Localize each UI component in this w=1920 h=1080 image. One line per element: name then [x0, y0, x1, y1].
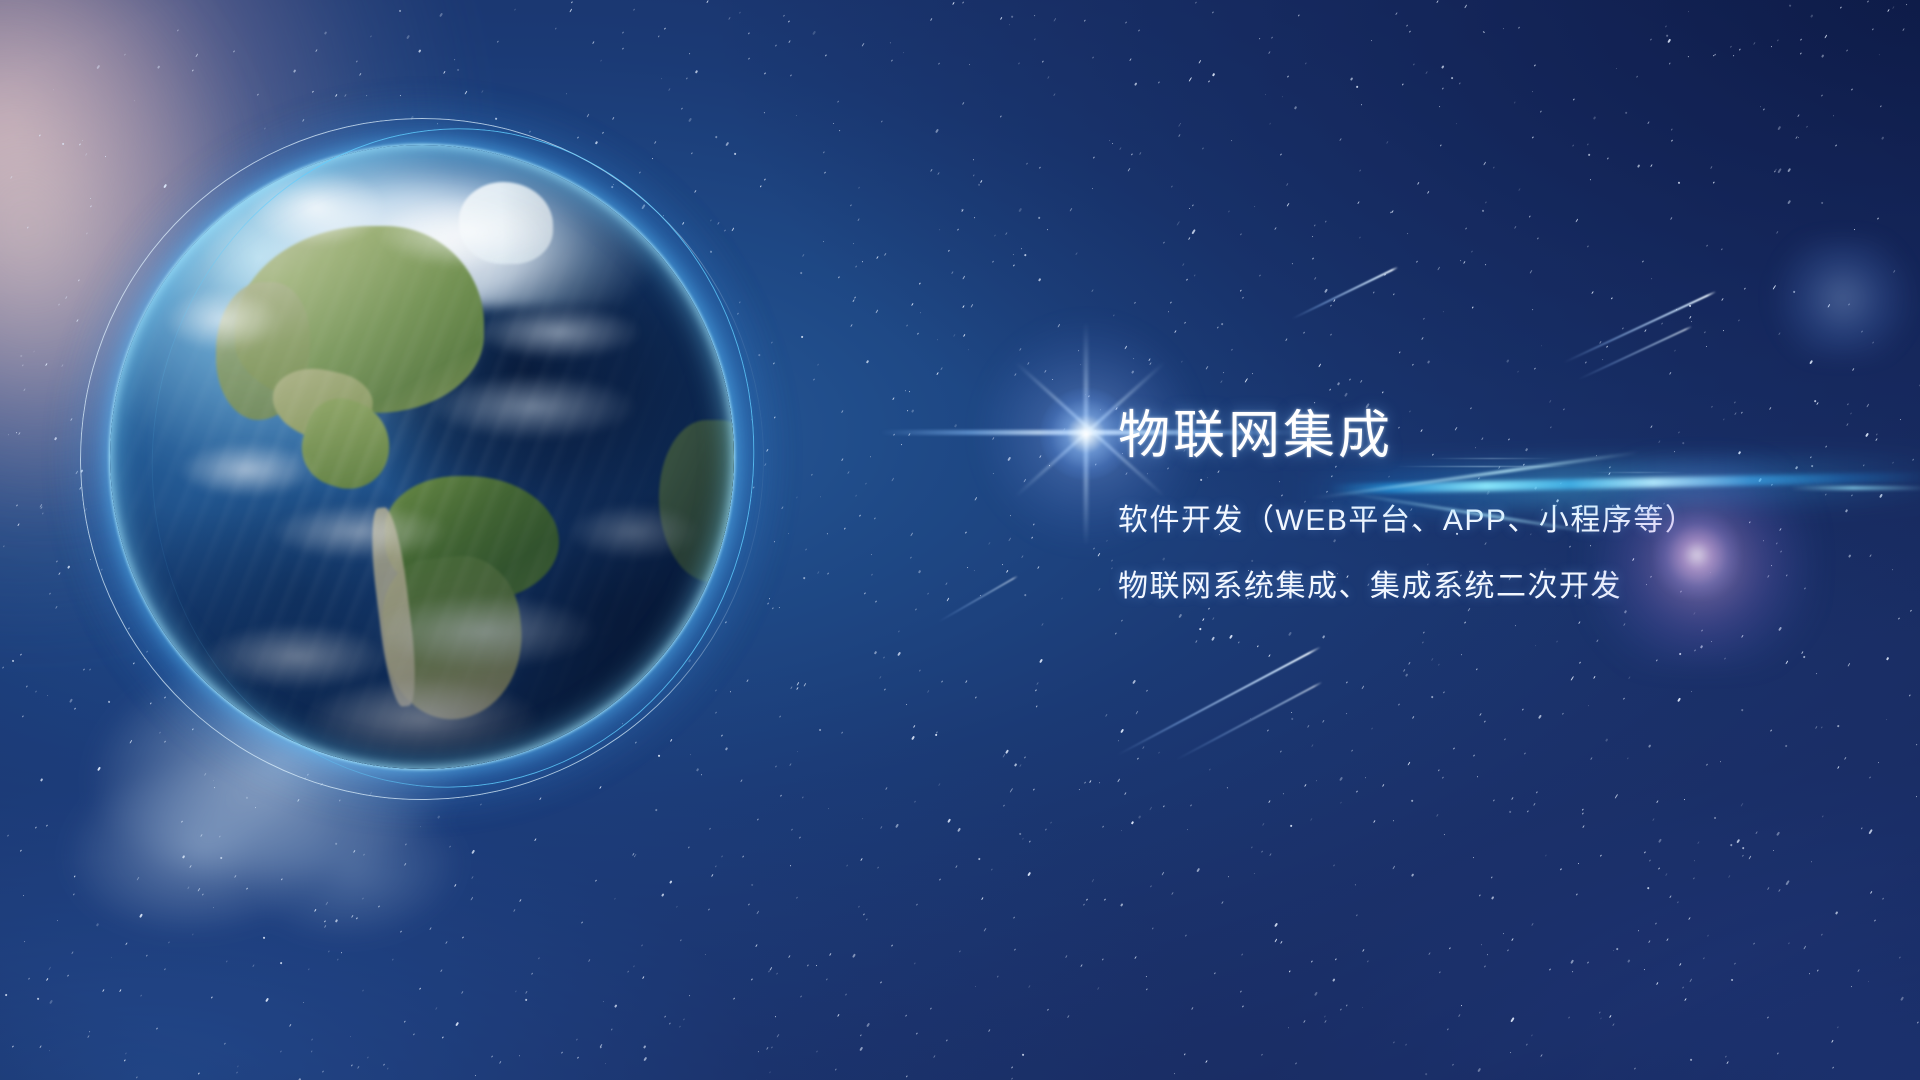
iot-integration-banner: 物联网集成 软件开发（WEB平台、APP、小程序等） 物联网系统集成、集成系统二… [0, 0, 1920, 1080]
globe-sphere [110, 145, 734, 769]
earth-globe-americas-icon [110, 145, 734, 769]
blue-bloom-top-right [1768, 238, 1918, 358]
violet-bloom-core [1654, 512, 1740, 598]
globe-limb-light [110, 145, 734, 769]
flare-hairline-b [1430, 458, 1554, 459]
flare-hairline-a [1396, 466, 1572, 467]
page-title: 物联网集成 [1118, 410, 1838, 462]
